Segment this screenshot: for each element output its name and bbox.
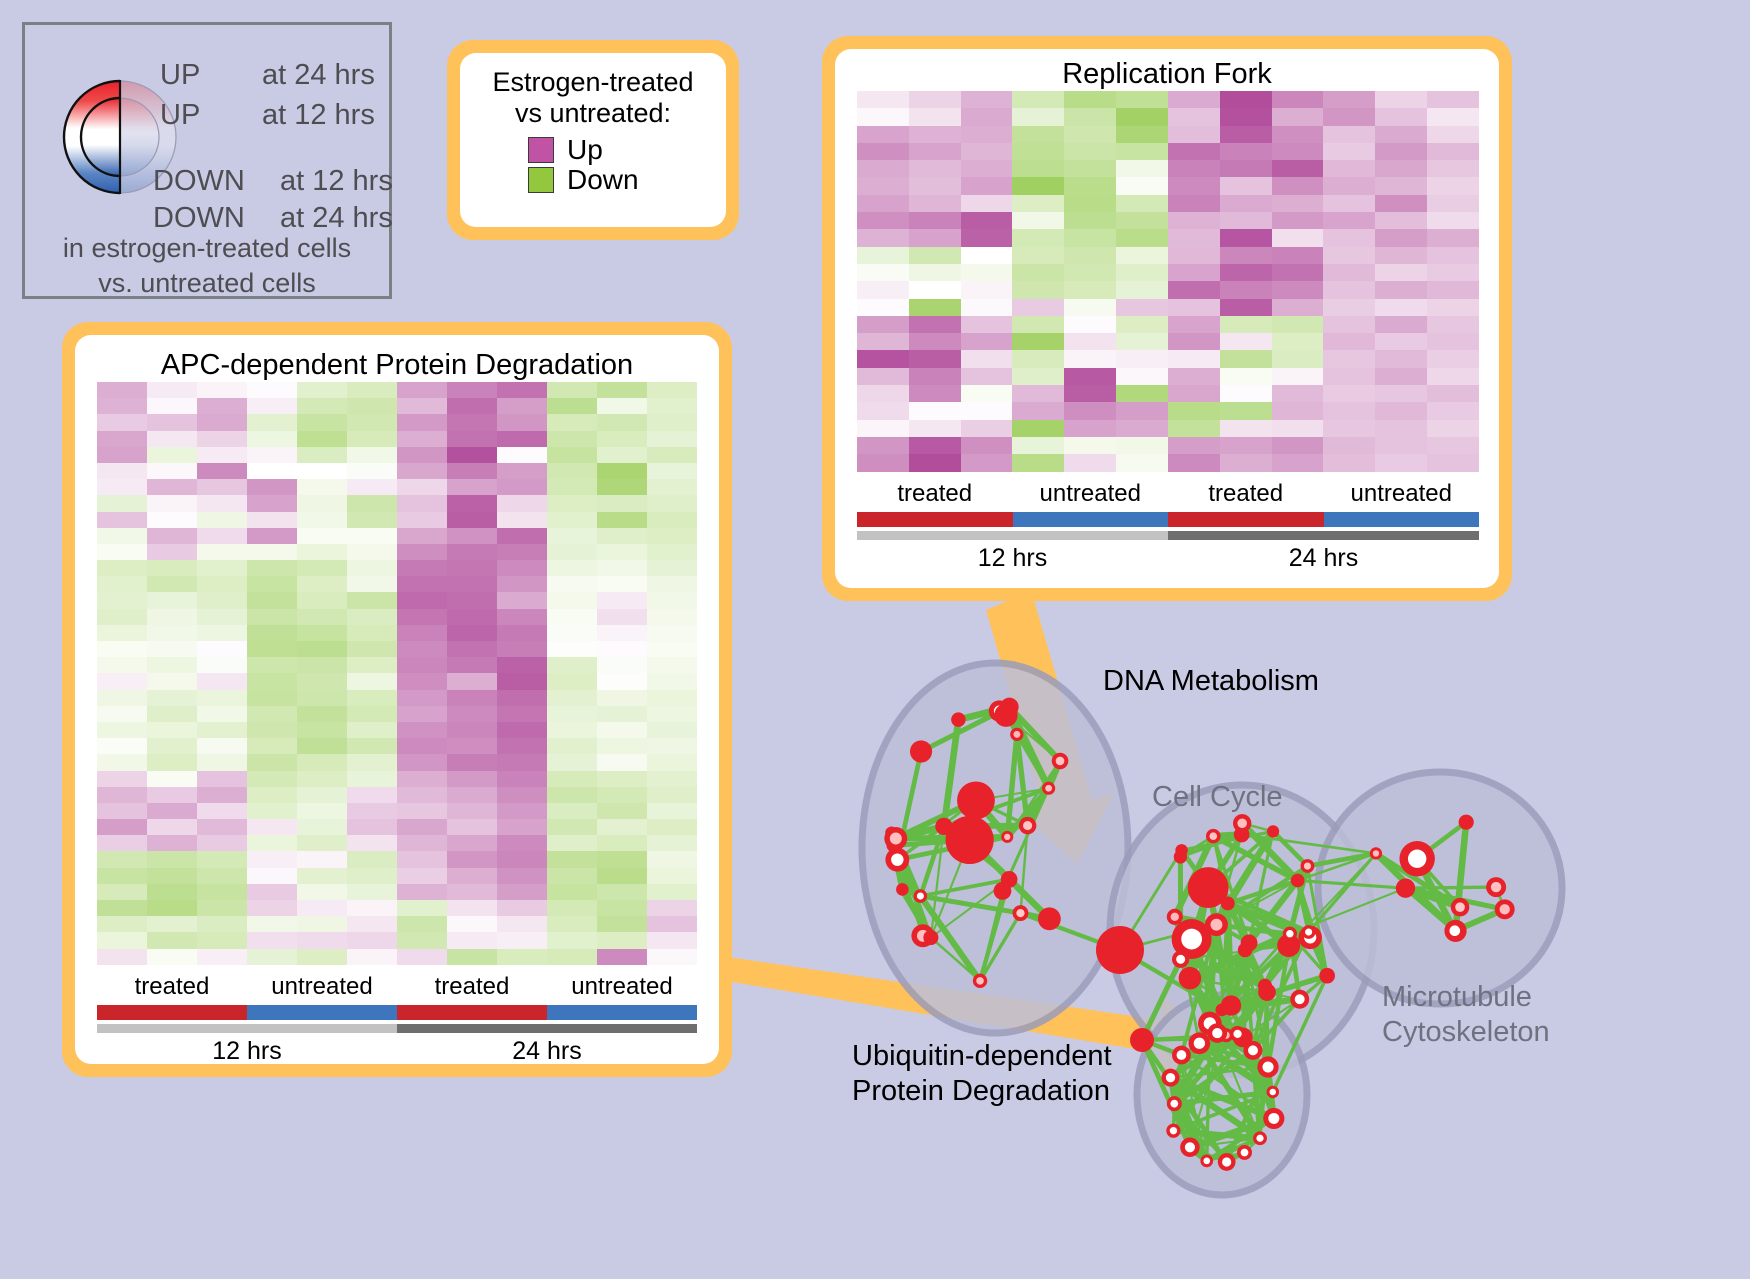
heatmap-cell xyxy=(647,512,697,528)
heatmap-cell xyxy=(97,916,147,932)
heatmap-cell xyxy=(97,932,147,948)
network-node xyxy=(1263,1108,1284,1129)
heatmap-cell xyxy=(247,673,297,689)
heatmap-cell xyxy=(347,787,397,803)
heatmap-cell xyxy=(909,212,961,229)
heatmap-cell xyxy=(497,463,547,479)
heatmap-cell xyxy=(397,771,447,787)
heatmap-cell xyxy=(597,932,647,948)
heatmap-cell xyxy=(857,350,909,367)
heatmap-cell xyxy=(497,560,547,576)
heatmap-cell xyxy=(347,819,397,835)
heatmap-cell xyxy=(647,771,697,787)
heatmap-cell xyxy=(497,495,547,511)
panel-title-apc: APC-dependent Protein Degradation xyxy=(75,335,719,382)
heatmap-cell xyxy=(297,932,347,948)
heatmap-cell xyxy=(497,528,547,544)
color-key-label-down: Down xyxy=(567,166,639,194)
heatmap-cell xyxy=(497,787,547,803)
heatmap-cell xyxy=(447,592,497,608)
heatmap-cell xyxy=(347,690,397,706)
heatmap-cell xyxy=(247,722,297,738)
heatmap-cell xyxy=(1168,350,1220,367)
heatmap-time-bar xyxy=(97,1024,397,1033)
heatmap-cell xyxy=(147,754,197,770)
color-key-title-line2: vs untreated: xyxy=(476,98,710,129)
heatmap-cell xyxy=(1012,385,1064,402)
heatmap-cell xyxy=(1375,229,1427,246)
heatmap-cell xyxy=(1427,402,1479,419)
heatmap-cell xyxy=(447,512,497,528)
heatmap-cell xyxy=(1323,454,1375,471)
heatmap-group-labels-replication-fork: treateduntreatedtreateduntreated xyxy=(857,472,1479,512)
heatmap-cell xyxy=(1220,229,1272,246)
heatmap-cell xyxy=(1323,316,1375,333)
heatmap-cell xyxy=(447,900,497,916)
heatmap-cell xyxy=(147,382,197,398)
heatmap-cell xyxy=(1064,420,1116,437)
network-node xyxy=(946,816,994,864)
heatmap-cell xyxy=(447,884,497,900)
heatmap-cell xyxy=(197,835,247,851)
heatmap-cell xyxy=(1272,264,1324,281)
heatmap-cell xyxy=(1116,195,1168,212)
heatmap-cell xyxy=(1012,454,1064,471)
heatmap-cell xyxy=(1064,143,1116,160)
heatmap-cell xyxy=(147,916,197,932)
heatmap-cell xyxy=(347,868,397,884)
heatmap-cell xyxy=(497,851,547,867)
heatmap-cell xyxy=(1375,350,1427,367)
heatmap-group-bar xyxy=(547,1005,697,1020)
heatmap-cell xyxy=(497,673,547,689)
heatmap-cell xyxy=(1272,437,1324,454)
heatmap-cell xyxy=(147,803,197,819)
heatmap-cell xyxy=(1012,108,1064,125)
heatmap-group-bar xyxy=(97,1005,247,1020)
heatmap-cell xyxy=(1272,126,1324,143)
heatmap-cell xyxy=(297,819,347,835)
heatmap-cell xyxy=(1168,143,1220,160)
heatmap-cell xyxy=(147,949,197,965)
heatmap-cell xyxy=(1116,281,1168,298)
heatmap-cell xyxy=(547,722,597,738)
heatmap-cell xyxy=(1012,333,1064,350)
network-node xyxy=(1167,909,1183,925)
heatmap-cell xyxy=(1272,160,1324,177)
heatmap-cell xyxy=(1168,91,1220,108)
network-node xyxy=(973,974,987,988)
heatmap-cell xyxy=(1272,177,1324,194)
network-node xyxy=(1459,815,1474,830)
heatmap-cell xyxy=(961,126,1013,143)
heatmap-cell xyxy=(1220,385,1272,402)
heatmap-cell xyxy=(647,641,697,657)
heatmap-cell xyxy=(1272,454,1324,471)
heatmap-cell xyxy=(909,402,961,419)
heatmap-cell xyxy=(147,625,197,641)
network-node xyxy=(1172,951,1189,968)
heatmap-cell xyxy=(961,212,1013,229)
heatmap-cell xyxy=(97,754,147,770)
heatmap-cell xyxy=(447,738,497,754)
heatmap-cell xyxy=(1272,299,1324,316)
heatmap-cell xyxy=(297,609,347,625)
heatmap-cell xyxy=(297,544,347,560)
heatmap-cell xyxy=(97,690,147,706)
heatmap-cell xyxy=(497,431,547,447)
heatmap-cell xyxy=(197,949,247,965)
heatmap-cell xyxy=(497,690,547,706)
heatmap-cell xyxy=(147,932,197,948)
heatmap-cell xyxy=(961,316,1013,333)
heatmap-cell xyxy=(1272,143,1324,160)
heatmap-cell xyxy=(547,673,597,689)
ring-legend-footer-line2: vs. untreated cells xyxy=(25,266,389,301)
heatmap-cell xyxy=(197,398,247,414)
heatmap-cell xyxy=(1168,299,1220,316)
heatmap-cell xyxy=(497,722,547,738)
network-node xyxy=(923,930,938,945)
heatmap-cell xyxy=(347,560,397,576)
heatmap-cell xyxy=(197,803,247,819)
heatmap-cell xyxy=(597,641,647,657)
heatmap-cell xyxy=(857,402,909,419)
heatmap-cell xyxy=(909,385,961,402)
heatmap-cell xyxy=(1116,108,1168,125)
heatmap-cell xyxy=(1168,316,1220,333)
heatmap-cell xyxy=(597,528,647,544)
heatmap-cell xyxy=(397,819,447,835)
color-key-title-line1: Estrogen-treated xyxy=(476,67,710,98)
heatmap-cell xyxy=(857,299,909,316)
heatmap-cell xyxy=(297,851,347,867)
heatmap-cell xyxy=(97,576,147,592)
heatmap-cell xyxy=(857,195,909,212)
heatmap-cell xyxy=(857,212,909,229)
heatmap-cell xyxy=(1323,229,1375,246)
heatmap-cell xyxy=(647,916,697,932)
heatmap-group-bar xyxy=(247,1005,397,1020)
heatmap-cell xyxy=(147,787,197,803)
network-node xyxy=(1257,1056,1278,1077)
expression-ring-legend: UP at 24 hrs UP at 12 hrs DOWN at 12 hrs… xyxy=(22,22,392,299)
heatmap-cell xyxy=(447,609,497,625)
ring-legend-state-2: DOWN xyxy=(153,165,245,198)
heatmap-cell xyxy=(97,447,147,463)
heatmap-cell xyxy=(397,803,447,819)
heatmap-cell xyxy=(147,463,197,479)
heatmap-replication-fork xyxy=(857,91,1479,472)
heatmap-cell xyxy=(1116,402,1168,419)
heatmap-cell xyxy=(397,544,447,560)
heatmap-cell xyxy=(647,560,697,576)
heatmap-cell xyxy=(857,91,909,108)
heatmap-cell xyxy=(347,463,397,479)
heatmap-cell xyxy=(97,592,147,608)
heatmap-cell xyxy=(1323,385,1375,402)
heatmap-cell xyxy=(647,949,697,965)
heatmap-cell xyxy=(1220,247,1272,264)
heatmap-cell xyxy=(97,949,147,965)
heatmap-cell xyxy=(1064,350,1116,367)
heatmap-cell xyxy=(197,932,247,948)
heatmap-cell xyxy=(1427,281,1479,298)
ring-legend-footer-line1: in estrogen-treated cells xyxy=(25,231,389,266)
heatmap-cell xyxy=(447,787,497,803)
network-node xyxy=(1010,728,1023,741)
heatmap-cell xyxy=(547,641,597,657)
heatmap-time-bar xyxy=(397,1024,697,1033)
heatmap-cell xyxy=(147,512,197,528)
heatmap-cell xyxy=(1375,195,1427,212)
heatmap-cell xyxy=(1375,316,1427,333)
heatmap-cell xyxy=(447,916,497,932)
network-node xyxy=(1001,871,1018,888)
heatmap-cell xyxy=(597,851,647,867)
heatmap-cell xyxy=(1168,108,1220,125)
heatmap-cell xyxy=(347,657,397,673)
heatmap-cell xyxy=(297,592,347,608)
heatmap-cell xyxy=(197,592,247,608)
heatmap-cell xyxy=(597,414,647,430)
heatmap-cell xyxy=(547,754,597,770)
network-node xyxy=(1445,920,1465,940)
heatmap-cell xyxy=(347,512,397,528)
heatmap-cell xyxy=(1168,177,1220,194)
heatmap-cell xyxy=(647,431,697,447)
heatmap-cell xyxy=(1064,247,1116,264)
heatmap-cell xyxy=(1012,420,1064,437)
heatmap-cell xyxy=(961,437,1013,454)
heatmap-cell xyxy=(397,884,447,900)
heatmap-cell xyxy=(247,592,297,608)
heatmap-cell xyxy=(147,544,197,560)
heatmap-cell xyxy=(297,754,347,770)
heatmap-cell xyxy=(1427,229,1479,246)
heatmap-cell xyxy=(247,900,297,916)
heatmap-cell xyxy=(909,281,961,298)
heatmap-cell xyxy=(297,868,347,884)
cluster-label-microtubule-cytoskeleton: Microtubule Cytoskeleton xyxy=(1382,980,1550,1051)
heatmap-cell xyxy=(247,576,297,592)
heatmap-cell xyxy=(197,738,247,754)
network-node xyxy=(1174,850,1187,863)
heatmap-cell xyxy=(197,382,247,398)
heatmap-cell xyxy=(97,851,147,867)
heatmap-cell xyxy=(347,771,397,787)
heatmap-cell xyxy=(909,454,961,471)
heatmap-cell xyxy=(1323,108,1375,125)
heatmap-cell xyxy=(497,382,547,398)
heatmap-cell xyxy=(1427,177,1479,194)
heatmap-cell xyxy=(857,316,909,333)
heatmap-cell xyxy=(447,949,497,965)
heatmap-cell xyxy=(1220,195,1272,212)
heatmap-cell xyxy=(147,414,197,430)
heatmap-cell xyxy=(961,454,1013,471)
heatmap-cell xyxy=(1272,281,1324,298)
heatmap-cell xyxy=(909,420,961,437)
heatmap-cell xyxy=(397,916,447,932)
heatmap-cell xyxy=(497,835,547,851)
heatmap-cell xyxy=(597,738,647,754)
heatmap-group-bar xyxy=(1324,512,1480,527)
network-node xyxy=(1167,1096,1182,1111)
heatmap-cell xyxy=(247,851,297,867)
heatmap-cell xyxy=(647,592,697,608)
heatmap-cell xyxy=(247,690,297,706)
heatmap-cell xyxy=(1323,281,1375,298)
heatmap-cell xyxy=(247,479,297,495)
heatmap-cell xyxy=(197,900,247,916)
heatmap-cell xyxy=(909,229,961,246)
heatmap-cell xyxy=(1375,108,1427,125)
heatmap-cell xyxy=(1012,195,1064,212)
heatmap-cell xyxy=(597,463,647,479)
heatmap-cell xyxy=(347,738,397,754)
heatmap-cell xyxy=(547,528,597,544)
heatmap-cell xyxy=(97,868,147,884)
ring-diagram xyxy=(61,47,236,227)
heatmap-cell xyxy=(347,949,397,965)
ring-legend-time-2: at 12 hrs xyxy=(280,165,393,198)
network-node xyxy=(957,781,995,819)
network-node xyxy=(1166,1124,1180,1138)
heatmap-cell xyxy=(97,398,147,414)
heatmap-cell xyxy=(547,657,597,673)
heatmap-cell xyxy=(397,431,447,447)
heatmap-cell xyxy=(1375,402,1427,419)
heatmap-cell xyxy=(297,949,347,965)
heatmap-cell xyxy=(297,431,347,447)
heatmap-cell xyxy=(647,414,697,430)
heatmap-cell xyxy=(1168,264,1220,281)
heatmap-cell xyxy=(1220,91,1272,108)
heatmap-cell xyxy=(447,528,497,544)
heatmap-cell xyxy=(497,803,547,819)
heatmap-cell xyxy=(597,398,647,414)
heatmap-cell xyxy=(1116,177,1168,194)
heatmap-cell xyxy=(247,414,297,430)
heatmap-cell xyxy=(1064,316,1116,333)
heatmap-cell xyxy=(547,916,597,932)
heatmap-cell xyxy=(1323,368,1375,385)
network-node xyxy=(914,889,928,903)
heatmap-cell xyxy=(97,382,147,398)
heatmap-cell xyxy=(547,803,597,819)
heatmap-cell xyxy=(547,512,597,528)
heatmap-cell xyxy=(547,495,597,511)
panel-replication-fork: Replication Fork treateduntreatedtreated… xyxy=(822,36,1512,601)
heatmap-cell xyxy=(397,592,447,608)
heatmap-cell xyxy=(961,402,1013,419)
heatmap-group-bar xyxy=(1013,512,1169,527)
heatmap-cell xyxy=(1168,385,1220,402)
heatmap-cell xyxy=(247,463,297,479)
heatmap-cell xyxy=(961,333,1013,350)
heatmap-cell xyxy=(347,447,397,463)
heatmap-cell xyxy=(1427,108,1479,125)
heatmap-cell xyxy=(97,787,147,803)
heatmap-cell xyxy=(1375,299,1427,316)
heatmap-cell xyxy=(961,368,1013,385)
heatmap-cell xyxy=(97,771,147,787)
heatmap-cell xyxy=(1323,177,1375,194)
network-node xyxy=(910,740,932,762)
heatmap-cell xyxy=(247,803,297,819)
heatmap-cell xyxy=(147,398,197,414)
color-key-item-up: Up xyxy=(528,136,710,164)
heatmap-cell xyxy=(397,447,447,463)
heatmap-cell xyxy=(1116,368,1168,385)
cluster-label-dna-metabolism: DNA Metabolism xyxy=(1103,665,1319,698)
heatmap-cell xyxy=(1323,160,1375,177)
network-node xyxy=(1238,943,1253,958)
heatmap-cell xyxy=(1427,454,1479,471)
heatmap-group-bars-apc xyxy=(97,1005,697,1020)
heatmap-cell xyxy=(961,281,1013,298)
heatmap-cell xyxy=(397,949,447,965)
heatmap-cell xyxy=(1168,333,1220,350)
ring-legend-state-1: UP xyxy=(160,99,200,132)
heatmap-cell xyxy=(297,900,347,916)
heatmap-cell xyxy=(347,900,397,916)
heatmap-cell xyxy=(1168,160,1220,177)
heatmap-cell xyxy=(397,512,447,528)
heatmap-cell xyxy=(297,512,347,528)
heatmap-cell xyxy=(1116,299,1168,316)
heatmap-cell xyxy=(397,560,447,576)
heatmap-cell xyxy=(347,641,397,657)
network-node xyxy=(1302,925,1316,939)
heatmap-cell xyxy=(247,835,297,851)
heatmap-cell xyxy=(147,431,197,447)
heatmap-cell xyxy=(97,431,147,447)
heatmap-cell xyxy=(1064,126,1116,143)
network-node xyxy=(1189,1032,1211,1054)
network-node xyxy=(1258,983,1276,1001)
heatmap-cell xyxy=(1323,437,1375,454)
heatmap-cell xyxy=(1012,264,1064,281)
heatmap-group-bar xyxy=(1168,512,1324,527)
heatmap-cell xyxy=(97,803,147,819)
heatmap-cell xyxy=(347,673,397,689)
heatmap-cell xyxy=(547,625,597,641)
network-edge xyxy=(1267,992,1268,1067)
heatmap-cell xyxy=(247,738,297,754)
heatmap-cell xyxy=(447,625,497,641)
heatmap-cell xyxy=(1427,91,1479,108)
heatmap-cell xyxy=(547,544,597,560)
heatmap-cell xyxy=(147,771,197,787)
heatmap-cell xyxy=(197,609,247,625)
heatmap-cell xyxy=(97,544,147,560)
heatmap-cell xyxy=(647,819,697,835)
heatmap-cell xyxy=(647,528,697,544)
heatmap-cell xyxy=(347,576,397,592)
heatmap-cell xyxy=(197,754,247,770)
heatmap-cell xyxy=(1168,420,1220,437)
heatmap-cell xyxy=(447,414,497,430)
heatmap-cell xyxy=(1323,333,1375,350)
heatmap-cell xyxy=(857,368,909,385)
network-node xyxy=(1221,896,1235,910)
heatmap-cell xyxy=(1427,385,1479,402)
figure-canvas: UP at 24 hrs UP at 12 hrs DOWN at 12 hrs… xyxy=(0,0,1750,1279)
heatmap-cell xyxy=(447,382,497,398)
heatmap-cell xyxy=(1116,143,1168,160)
